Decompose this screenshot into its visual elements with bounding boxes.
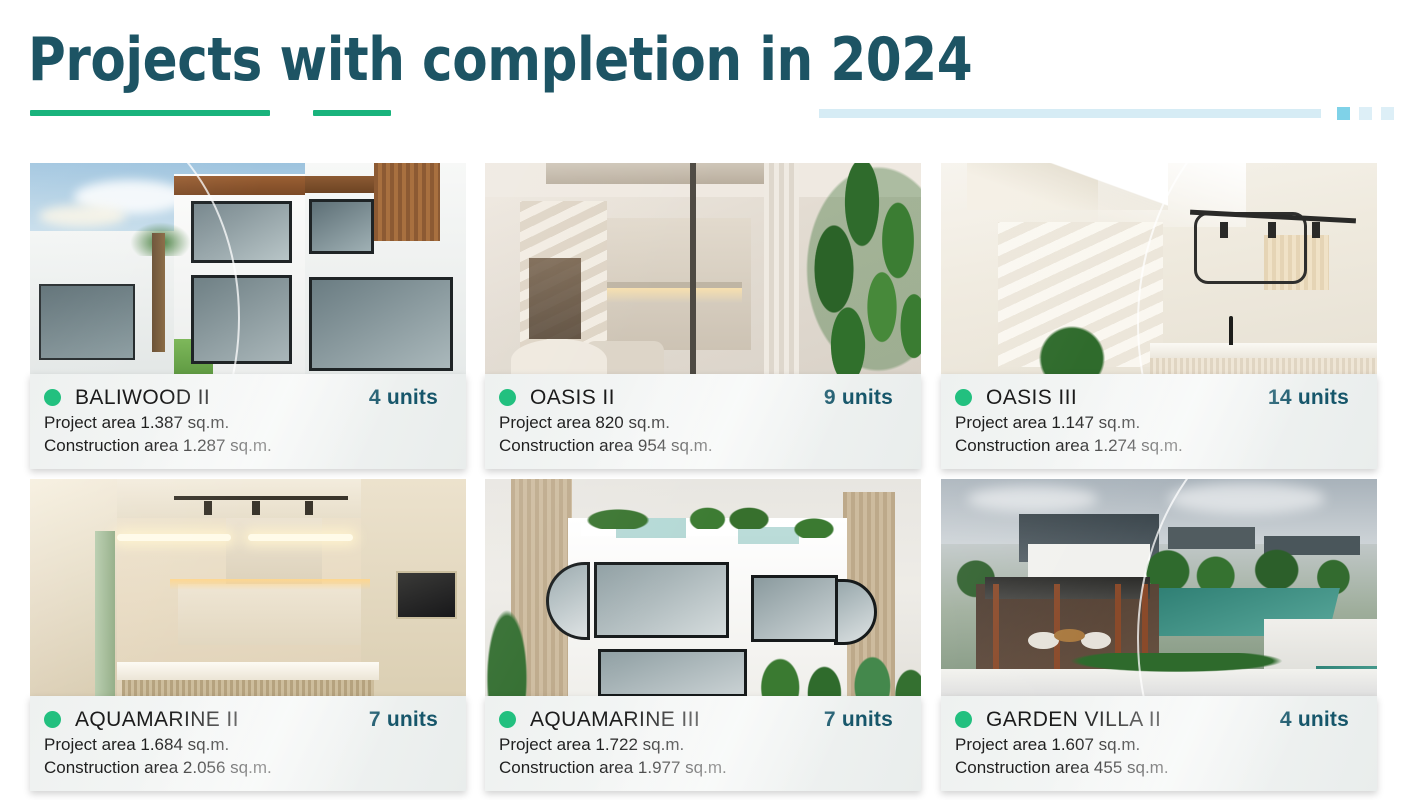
unit-count-badge: 9 units [824, 386, 907, 410]
project-info-panel: OASIS III 14 units Project area 1.147 sq… [941, 374, 1377, 469]
project-info-panel: GARDEN VILLA II 4 units Project area 1.6… [941, 696, 1377, 791]
construction-area: Construction area 455 sq.m. [955, 758, 1363, 779]
project-photo [30, 479, 466, 697]
project-name: BALIWOOD II [75, 386, 210, 410]
project-photo [485, 479, 921, 697]
slide: Projects with completion in 2024 [0, 0, 1422, 800]
project-area: Project area 1.147 sq.m. [955, 413, 1363, 434]
project-area: Project area 1.607 sq.m. [955, 735, 1363, 756]
status-dot-icon [44, 711, 61, 728]
status-dot-icon [499, 389, 516, 406]
photo-art-beige-interior-stairs-plant [485, 163, 921, 375]
photo-art-aerial-villa-complex-pools [941, 479, 1377, 697]
status-dot-icon [955, 389, 972, 406]
project-card[interactable]: OASIS II 9 units Project area 820 sq.m. … [485, 163, 921, 469]
project-card[interactable]: AQUAMARINE II 7 units Project area 1.684… [30, 479, 466, 791]
project-name: OASIS III [986, 386, 1077, 410]
photo-art-white-interior-floating-stairs-kitchen [941, 163, 1377, 375]
photo-art-white-villa-arched-windows [485, 479, 921, 697]
unit-count-badge: 7 units [824, 708, 907, 732]
unit-count-badge: 4 units [1280, 708, 1363, 732]
project-info-panel: AQUAMARINE III 7 units Project area 1.72… [485, 696, 921, 791]
project-card[interactable]: GARDEN VILLA II 4 units Project area 1.6… [941, 479, 1377, 791]
project-card[interactable]: OASIS III 14 units Project area 1.147 sq… [941, 163, 1377, 469]
project-name: AQUAMARINE II [75, 708, 239, 732]
project-card[interactable]: BALIWOOD II 4 units Project area 1.387 s… [30, 163, 466, 469]
unit-count-badge: 4 units [369, 386, 452, 410]
construction-area: Construction area 954 sq.m. [499, 436, 907, 457]
construction-area: Construction area 2.056 sq.m. [44, 758, 452, 779]
project-info-panel: BALIWOOD II 4 units Project area 1.387 s… [30, 374, 466, 469]
project-card[interactable]: AQUAMARINE III 7 units Project area 1.72… [485, 479, 921, 791]
status-dot-icon [44, 389, 61, 406]
project-area: Project area 1.722 sq.m. [499, 735, 907, 756]
project-area: Project area 1.387 sq.m. [44, 413, 452, 434]
photo-art-warm-cream-kitchen-island [30, 479, 466, 697]
project-card-grid: BALIWOOD II 4 units Project area 1.387 s… [0, 0, 1422, 800]
status-dot-icon [499, 711, 516, 728]
project-info-panel: AQUAMARINE II 7 units Project area 1.684… [30, 696, 466, 791]
construction-area: Construction area 1.274 sq.m. [955, 436, 1363, 457]
construction-area: Construction area 1.977 sq.m. [499, 758, 907, 779]
unit-count-badge: 7 units [369, 708, 452, 732]
status-dot-icon [955, 711, 972, 728]
project-photo [941, 479, 1377, 697]
project-area: Project area 1.684 sq.m. [44, 735, 452, 756]
project-name: AQUAMARINE III [530, 708, 700, 732]
project-info-panel: OASIS II 9 units Project area 820 sq.m. … [485, 374, 921, 469]
project-area: Project area 820 sq.m. [499, 413, 907, 434]
project-photo [485, 163, 921, 375]
project-name: OASIS II [530, 386, 615, 410]
construction-area: Construction area 1.287 sq.m. [44, 436, 452, 457]
project-photo [30, 163, 466, 375]
unit-count-badge: 14 units [1268, 386, 1363, 410]
photo-art-modern-white-villa-exterior [30, 163, 466, 375]
project-name: GARDEN VILLA II [986, 708, 1161, 732]
project-photo [941, 163, 1377, 375]
